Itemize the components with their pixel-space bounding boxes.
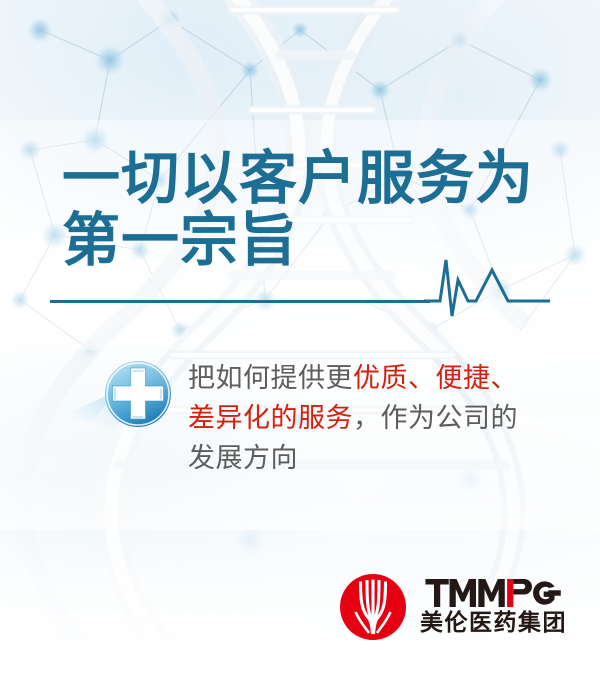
body-seg-highlight: 优质、便捷、: [353, 363, 518, 393]
body-copy: 把如何提供更优质、便捷、 差异化的服务，作为公司的 发展方向: [188, 358, 564, 478]
body-seg: 把如何提供更: [188, 363, 353, 393]
body-line-3: 发展方向: [188, 438, 564, 478]
body-seg: ，作为公司的: [353, 403, 518, 433]
logo-chinese-text: 美伦医药集团: [420, 609, 567, 635]
logo-latin-text: [420, 579, 567, 607]
logo-wordmark: 美伦医药集团: [420, 579, 567, 635]
body-line-1: 把如何提供更优质、便捷、: [188, 358, 564, 398]
tmmpg-circle-flame-mark: [338, 572, 408, 642]
poster-canvas: 一切以客户服务为 第一宗旨: [0, 0, 600, 700]
body-line-2: 差异化的服务，作为公司的: [188, 398, 564, 438]
divider-rule: [50, 300, 430, 303]
page-title: 一切以客户服务为 第一宗旨: [62, 148, 562, 272]
medical-cross-icon: [96, 352, 180, 436]
body-seg-highlight: 差异化的服务: [188, 403, 353, 433]
body-seg: 发展方向: [188, 443, 298, 473]
headline-line-1: 一切以客户服务为: [62, 148, 562, 210]
company-logo: 美伦医药集团: [338, 572, 567, 642]
heartbeat-line-icon: [424, 258, 550, 318]
